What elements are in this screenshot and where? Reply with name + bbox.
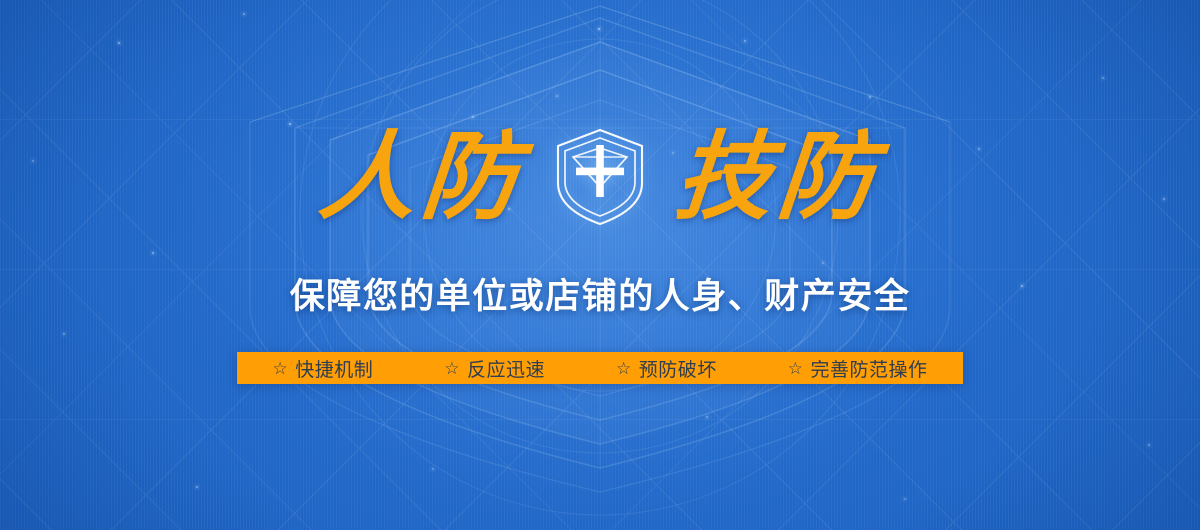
headline: 人防 技防: [0, 118, 1200, 236]
feature-item-1[interactable]: ☆ 快捷机制: [268, 355, 377, 382]
feature-label: 预防破坏: [639, 355, 717, 382]
shield-cross-icon: [552, 125, 648, 229]
subtitle: 保障您的单位或店铺的人身、财产安全: [0, 268, 1200, 319]
star-icon: ☆: [444, 360, 460, 377]
feature-item-4[interactable]: ☆ 完善防范操作: [784, 355, 932, 382]
promo-banner: 人防 技防 保障您的单位或店铺的人身、财产安全 ☆ 快捷机制 ☆ 反应迅速: [0, 0, 1200, 530]
banner-content: 人防 技防 保障您的单位或店铺的人身、财产安全 ☆ 快捷机制 ☆ 反应迅速: [0, 0, 1200, 530]
star-icon: ☆: [616, 360, 632, 377]
star-icon: ☆: [788, 360, 804, 377]
feature-item-2[interactable]: ☆ 反应迅速: [440, 355, 549, 382]
feature-item-3[interactable]: ☆ 预防破坏: [612, 355, 721, 382]
star-icon: ☆: [272, 360, 288, 377]
headline-left-text: 人防: [316, 129, 528, 225]
feature-label: 快捷机制: [295, 355, 373, 382]
feature-label: 反应迅速: [467, 355, 545, 382]
headline-right-text: 技防: [672, 129, 884, 225]
feature-bar: ☆ 快捷机制 ☆ 反应迅速 ☆ 预防破坏 ☆ 完善防范操作: [237, 352, 963, 384]
feature-label: 完善防范操作: [810, 355, 927, 382]
